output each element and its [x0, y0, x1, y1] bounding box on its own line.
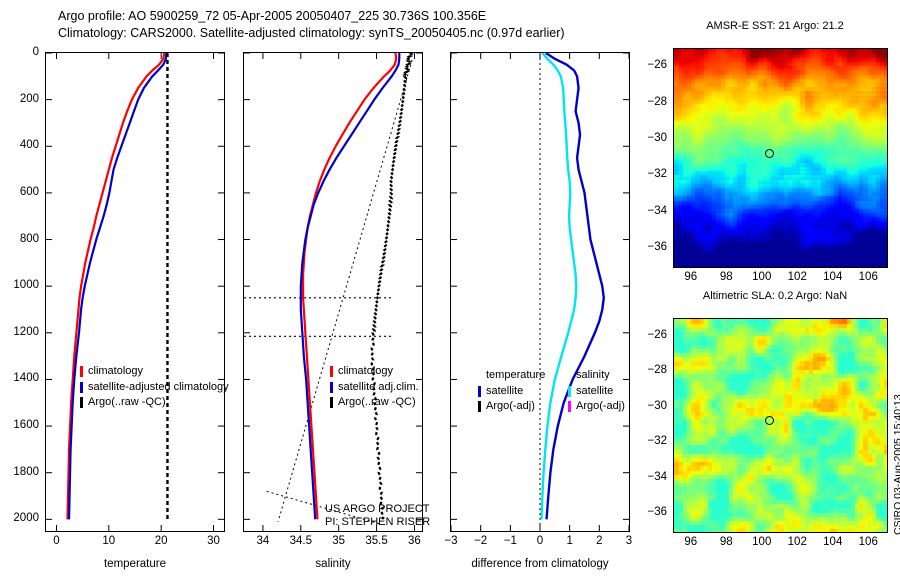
axis-tick-label: −28 — [627, 96, 667, 108]
salinity-axis-ticks — [244, 53, 422, 531]
argo-adj-swatch — [568, 401, 571, 412]
sla-map-panel — [673, 318, 888, 533]
axis-tick-label: 98 — [706, 536, 746, 548]
temperature-xlabel: temperature — [75, 558, 195, 570]
legend-title-row: temperature — [478, 368, 545, 384]
temperature-plot-area — [46, 53, 224, 531]
axis-tick-label: 106 — [848, 536, 888, 548]
axis-tick-label: 30 — [194, 535, 234, 547]
difference-profile-panel — [450, 52, 630, 532]
axis-tick-label: 800 — [0, 233, 39, 245]
sla-map-title: Altimetric SLA: 0.2 Argo: NaN — [655, 290, 895, 302]
argo-raw-swatch — [330, 397, 333, 408]
temperature-axis-ticks — [46, 53, 224, 531]
axis-tick-label: 36 — [394, 535, 434, 547]
legend-title: temperature — [486, 368, 545, 384]
axis-tick-label: 600 — [0, 186, 39, 198]
salinity-profile-panel — [243, 52, 423, 532]
axis-tick-label: 20 — [141, 535, 181, 547]
legend-item: satellite adj.clim. — [330, 380, 419, 396]
axis-tick-label: 0 — [0, 46, 39, 58]
title-line-1: Argo profile: AO 5900259_72 05-Apr-2005 … — [58, 8, 565, 25]
axis-tick-label: 96 — [671, 271, 711, 283]
axis-tick-label: 104 — [813, 536, 853, 548]
sla-map-image — [674, 319, 887, 532]
legend-label: Argo(-adj) — [576, 399, 625, 415]
argo-project-annotation: US ARGO PROJECT PI: STEPHEN RISER — [325, 503, 430, 529]
axis-tick-label: 1600 — [0, 419, 39, 431]
axis-tick-label: 106 — [848, 271, 888, 283]
axis-tick-label: 98 — [706, 271, 746, 283]
salinity-reference-dotted-lines — [244, 60, 412, 524]
annotation-line-1: US ARGO PROJECT — [325, 503, 430, 516]
axis-tick-label: −28 — [627, 364, 667, 376]
argo-adj-swatch — [478, 401, 481, 412]
axis-tick-label: 1400 — [0, 372, 39, 384]
axis-tick-label: −34 — [627, 205, 667, 217]
legend-item: climatology — [80, 364, 229, 380]
axis-tick-label: 0 — [36, 535, 76, 547]
difference-legend-temperature: temperature satellite Argo(-adj) — [478, 368, 545, 415]
legend-item: Argo(-adj) — [478, 399, 545, 415]
satellite-swatch — [568, 386, 571, 397]
axis-tick-label: 35 — [319, 535, 359, 547]
axis-tick-label: 3 — [609, 535, 649, 547]
axis-tick-label: −32 — [627, 435, 667, 447]
axis-tick-label: 34.5 — [281, 535, 321, 547]
axis-tick-label: −34 — [627, 471, 667, 483]
salinity-argo-raw-line — [371, 53, 411, 519]
satellite-swatch — [478, 386, 481, 397]
annotation-line-2: PI: STEPHEN RISER — [325, 516, 430, 529]
difference-legend-salinity: salinity satellite Argo(-adj) — [568, 368, 625, 415]
axis-tick-label: 1800 — [0, 466, 39, 478]
axis-tick-label: 2000 — [0, 512, 39, 524]
legend-item: satellite-adjusted climatology — [80, 380, 229, 396]
axis-tick-label: 100 — [742, 536, 782, 548]
sst-map-panel — [673, 48, 888, 268]
salinity-plot-area — [244, 53, 422, 531]
axis-tick-label: −32 — [627, 168, 667, 180]
difference-plot-area — [451, 53, 629, 531]
title-line-2: Climatology: CARS2000. Satellite-adjuste… — [58, 25, 565, 42]
legend-title: salinity — [576, 368, 610, 384]
legend-label: Argo(..raw -QC) — [88, 395, 166, 411]
temperature-difference-line — [546, 53, 604, 519]
satellite-swatch — [330, 382, 333, 393]
difference-xlabel: difference from climatology — [455, 558, 625, 570]
satellite-swatch — [80, 382, 83, 393]
temperature-satellite-line — [69, 53, 166, 519]
axis-tick-label: −36 — [627, 241, 667, 253]
axis-tick-label: 1000 — [0, 279, 39, 291]
legend-item: satellite — [478, 384, 545, 400]
legend-title-row: salinity — [568, 368, 625, 384]
salinity-difference-line — [541, 53, 576, 519]
legend-label: Argo(-adj) — [486, 399, 535, 415]
legend-item: Argo(-adj) — [568, 399, 625, 415]
argo-position-marker — [765, 416, 774, 425]
legend-item: Argo(..raw -QC) — [80, 395, 229, 411]
axis-tick-label: −36 — [627, 506, 667, 518]
legend-label: satellite — [486, 384, 523, 400]
figure-title: Argo profile: AO 5900259_72 05-Apr-2005 … — [58, 8, 565, 41]
salinity-legend: climatology satellite adj.clim. Argo(..r… — [330, 364, 419, 411]
axis-tick-label: 10 — [89, 535, 129, 547]
legend-label: Argo(..raw -QC) — [338, 395, 416, 411]
axis-tick-label: −30 — [627, 132, 667, 144]
legend-item: Argo(..raw -QC) — [330, 395, 419, 411]
climatology-swatch — [80, 366, 83, 377]
temperature-legend: climatology satellite-adjusted climatolo… — [80, 364, 229, 411]
axis-tick-label: 102 — [777, 536, 817, 548]
axis-tick-label: 102 — [777, 271, 817, 283]
legend-label: climatology — [338, 364, 393, 380]
legend-item: satellite — [568, 384, 625, 400]
temperature-climatology-line — [67, 53, 164, 519]
legend-label: satellite-adjusted climatology — [88, 380, 229, 396]
spacer — [478, 370, 481, 381]
axis-tick-label: 400 — [0, 139, 39, 151]
axis-tick-label: 96 — [671, 536, 711, 548]
axis-tick-label: 34 — [243, 535, 283, 547]
axis-tick-label: 1200 — [0, 326, 39, 338]
axis-tick-label: −26 — [627, 59, 667, 71]
salinity-xlabel: salinity — [273, 558, 393, 570]
spacer — [568, 370, 571, 381]
axis-tick-label: −26 — [627, 329, 667, 341]
temperature-profile-panel — [45, 52, 225, 532]
timestamp-stamp: CSIRO 03-Aug-2005 15:40:13 — [892, 394, 900, 535]
sst-map-image — [674, 49, 887, 267]
axis-tick-label: 200 — [0, 93, 39, 105]
legend-label: climatology — [88, 364, 143, 380]
salinity-climatology-line — [303, 53, 396, 519]
legend-label: satellite — [576, 384, 613, 400]
legend-item: climatology — [330, 364, 419, 380]
argo-raw-swatch — [80, 397, 83, 408]
axis-tick-label: 104 — [813, 271, 853, 283]
axis-tick-label: −30 — [627, 400, 667, 412]
legend-label: satellite adj.clim. — [338, 380, 419, 396]
argo-position-marker — [765, 149, 774, 158]
axis-tick-label: 100 — [742, 271, 782, 283]
climatology-swatch — [330, 366, 333, 377]
sst-map-title: AMSR-E SST: 21 Argo: 21.2 — [655, 20, 895, 32]
axis-tick-label: 35.5 — [357, 535, 397, 547]
